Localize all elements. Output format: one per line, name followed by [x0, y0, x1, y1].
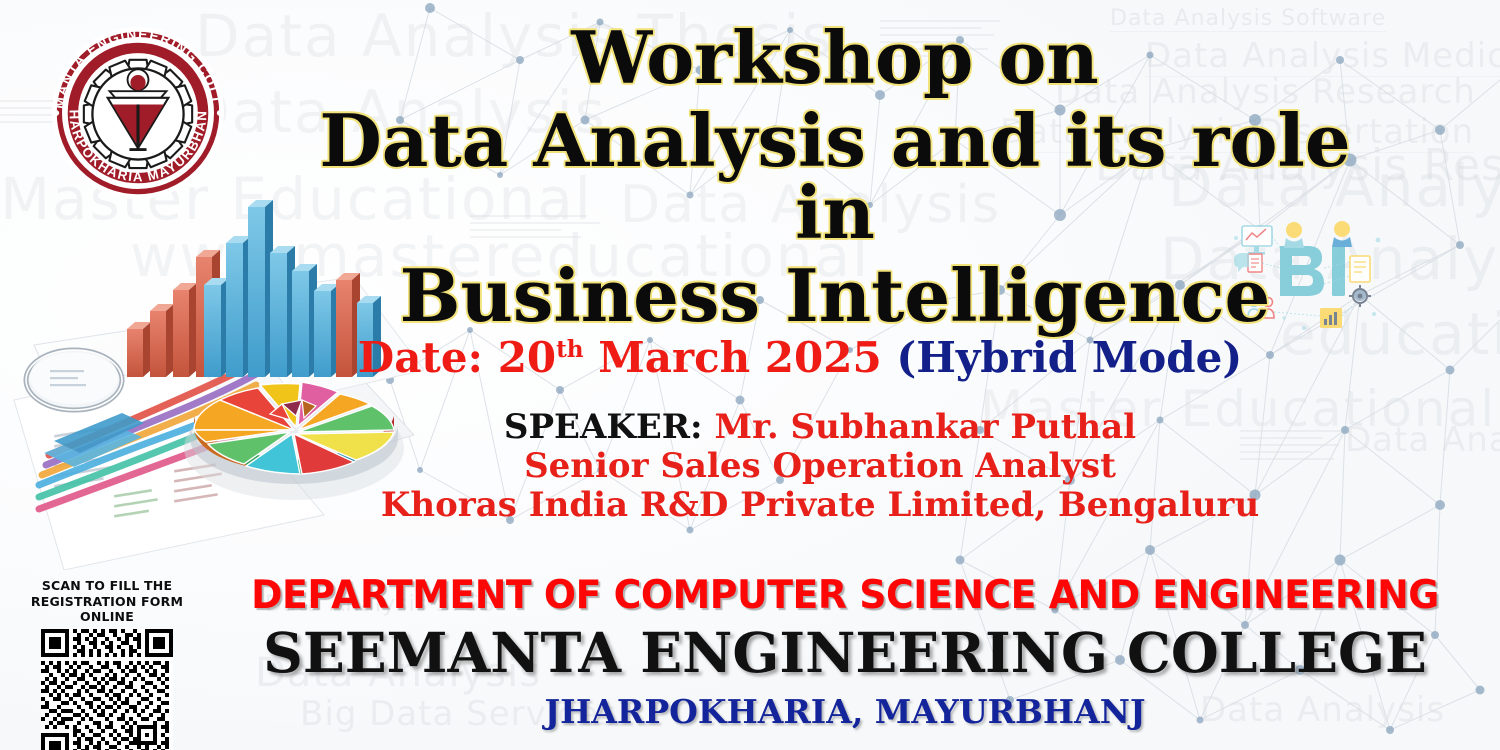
qr-registration-block[interactable]: SCAN TO FILL THE REGISTRATION FORM ONLIN…	[12, 578, 202, 750]
college-logo: SEEMANTA ENGINEERING COLLEGE JHARPOKHARI…	[38, 18, 238, 208]
speaker-name: Mr. Subhankar Puthal	[714, 407, 1136, 447]
date-ordinal: th	[556, 336, 583, 363]
title-line-2: Data Analysis and its role in	[300, 105, 1370, 248]
speaker-label: SPEAKER:	[504, 407, 703, 447]
workshop-poster: Data Analysis Thesis Data Analysis Maste…	[0, 0, 1500, 750]
date-month-year: March 2025	[598, 333, 881, 382]
date-label: Date:	[358, 333, 483, 382]
college-name: SEEMANTA ENGINEERING COLLEGE	[200, 620, 1490, 685]
title-line-1: Workshop on	[300, 22, 1370, 93]
college-location: JHARPOKHARIA, MAYURBHANJ	[200, 692, 1490, 731]
event-date-row: Date: 20th March 2025 (Hybrid Mode)	[300, 333, 1300, 382]
speaker-designation: Senior Sales Operation Analyst	[320, 447, 1320, 486]
department-name: DEPARTMENT OF COMPUTER SCIENCE AND ENGIN…	[219, 573, 1470, 618]
qr-code[interactable]	[32, 629, 182, 750]
speaker-block: SPEAKER: Mr. Subhankar Puthal Senior Sal…	[320, 408, 1320, 524]
event-mode: (Hybrid Mode)	[896, 333, 1242, 382]
magnifier-icon	[26, 350, 122, 410]
poster-title: Workshop on Data Analysis and its role i…	[300, 22, 1370, 331]
qr-caption: SCAN TO FILL THE REGISTRATION FORM ONLIN…	[12, 578, 202, 625]
title-line-3: Business Intelligence	[300, 260, 1370, 331]
qr-caption-line-2: REGISTRATION FORM ONLINE	[12, 594, 202, 625]
qr-caption-line-1: SCAN TO FILL THE	[12, 578, 202, 594]
date-day: 20	[498, 333, 556, 382]
speaker-name-row: SPEAKER: Mr. Subhankar Puthal	[320, 408, 1320, 447]
speaker-organisation: Khoras India R&D Private Limited, Bengal…	[320, 486, 1320, 525]
